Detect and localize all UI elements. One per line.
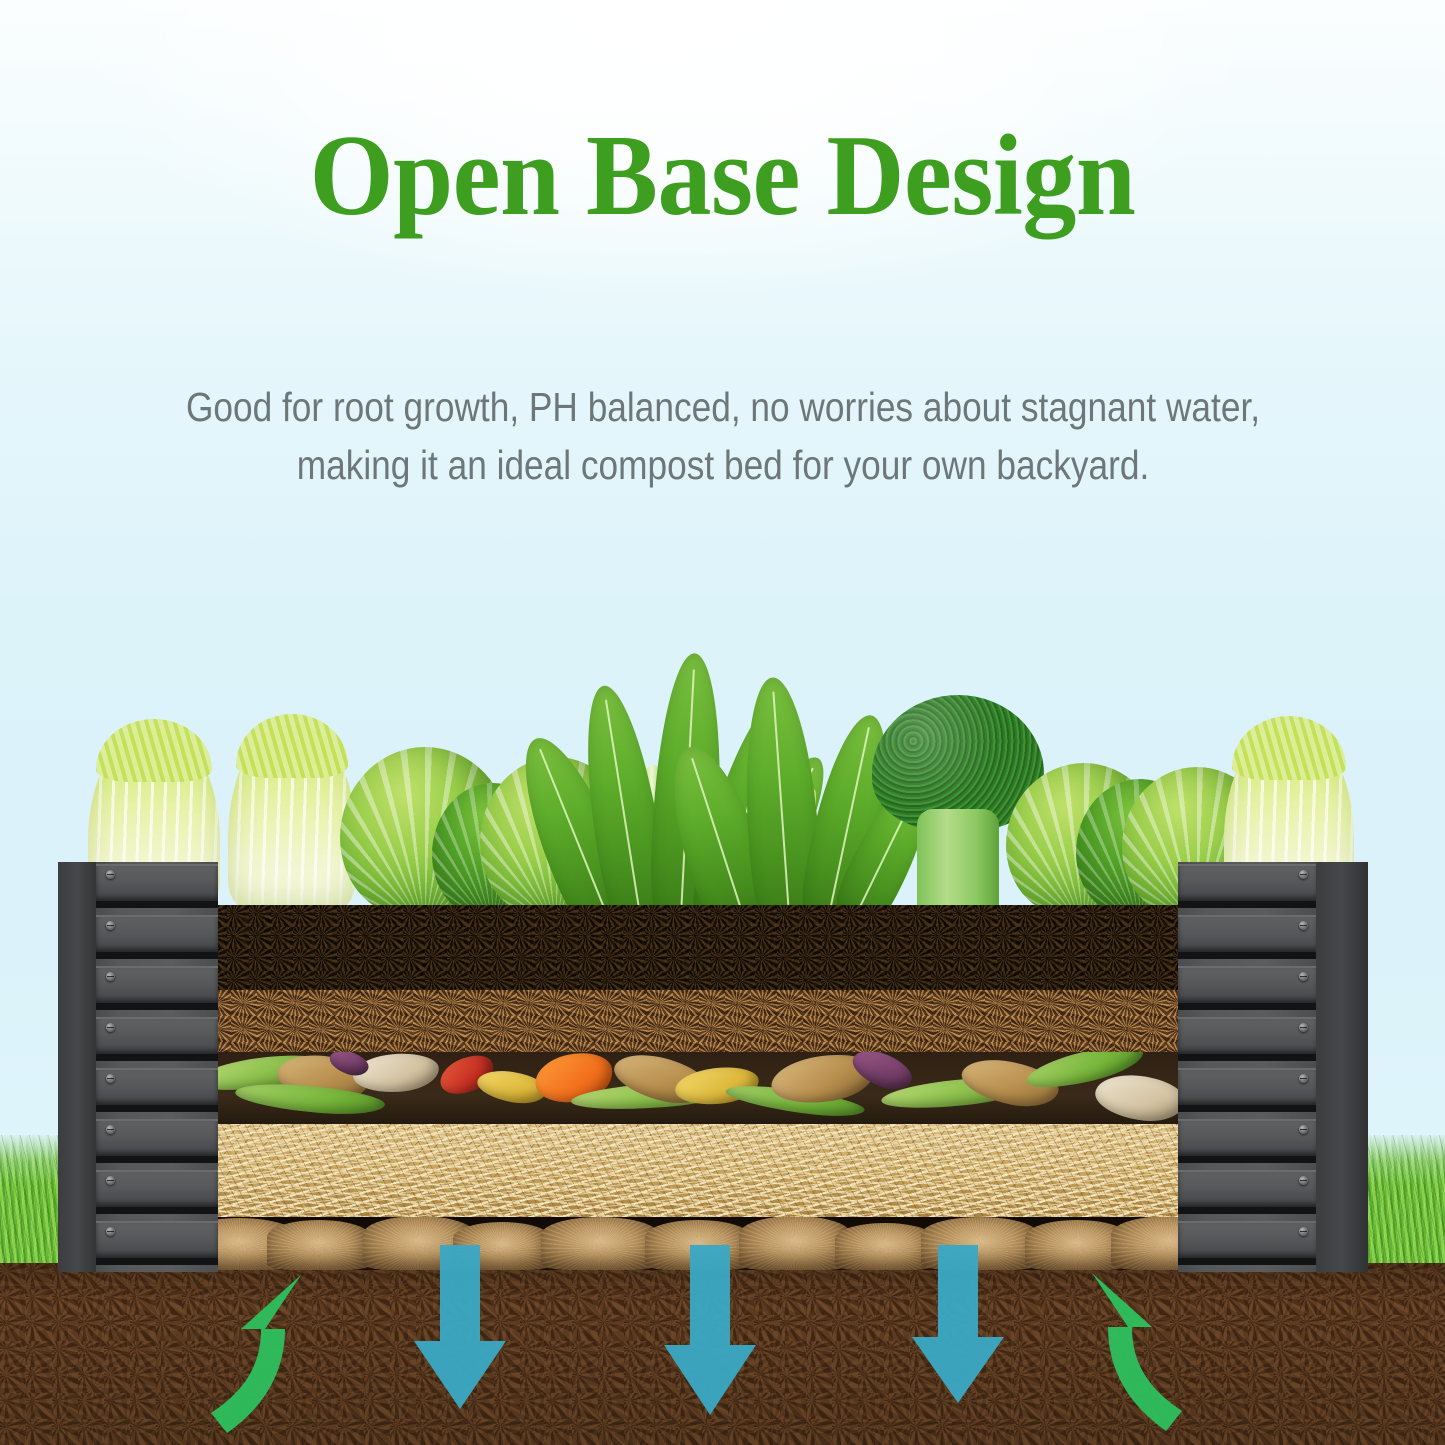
screw-icon xyxy=(106,1023,115,1032)
panel-slat xyxy=(96,915,218,959)
layer-straw xyxy=(205,1124,1180,1217)
right-panel-side-edge xyxy=(1316,862,1368,1272)
panel-slat xyxy=(96,1170,218,1214)
panel-slat xyxy=(96,1017,218,1061)
screw-icon xyxy=(1299,1176,1308,1185)
screw-icon xyxy=(1299,972,1308,981)
screw-icon xyxy=(106,1125,115,1134)
page-title: Open Base Design xyxy=(51,118,1395,234)
panel-slat xyxy=(96,1068,218,1112)
layer-compost xyxy=(205,990,1180,1052)
panel-slat xyxy=(1178,864,1318,908)
screw-icon xyxy=(106,870,115,879)
arrow-down-blue-3 xyxy=(908,1245,1008,1415)
panel-slat xyxy=(1178,1119,1318,1163)
broccoli-stem xyxy=(917,809,1000,915)
panel-slat xyxy=(1178,1068,1318,1112)
screw-icon xyxy=(1299,921,1308,930)
subtitle-line-2: making it an ideal compost bed for your … xyxy=(151,436,1295,494)
layer-kitchen-scraps xyxy=(205,1052,1180,1124)
page-subtitle: Good for root growth, PH balanced, no wo… xyxy=(58,378,1388,494)
airflow-arrows xyxy=(0,1245,1445,1445)
left-panel xyxy=(58,862,218,1272)
screw-icon xyxy=(1299,1227,1308,1236)
subtitle-line-1: Good for root growth, PH balanced, no wo… xyxy=(151,378,1295,436)
arrow-up-green-right xyxy=(1078,1265,1188,1440)
compost-bed-cross-section xyxy=(205,905,1180,1270)
panel-slat xyxy=(96,864,218,908)
open-base-design-infographic: Open Base Design Good for root growth, P… xyxy=(0,0,1445,1445)
screw-icon xyxy=(1299,1125,1308,1134)
bok-choy-1 xyxy=(700,665,880,915)
panel-slat xyxy=(1178,1017,1318,1061)
panel-slat xyxy=(1178,1170,1318,1214)
right-panel-face xyxy=(1178,862,1318,1272)
panel-slat xyxy=(1178,966,1318,1010)
screw-icon xyxy=(106,1176,115,1185)
screw-icon xyxy=(1299,1023,1308,1032)
left-panel-side-edge xyxy=(58,862,98,1272)
screw-icon xyxy=(106,1074,115,1083)
layer-topsoil xyxy=(205,905,1180,990)
arrow-down-blue-1 xyxy=(410,1245,510,1420)
napa-cabbage-2 xyxy=(228,725,356,915)
panel-slat xyxy=(96,1119,218,1163)
screw-icon xyxy=(1299,870,1308,879)
arrow-up-green-left xyxy=(205,1267,315,1442)
screw-icon xyxy=(106,1227,115,1236)
screw-icon xyxy=(1299,1074,1308,1083)
right-panel xyxy=(1178,862,1368,1272)
arrow-down-blue-2 xyxy=(660,1245,760,1425)
scrap-item xyxy=(1093,1071,1180,1124)
left-panel-face xyxy=(96,862,218,1272)
panel-slat xyxy=(1178,915,1318,959)
panel-slat xyxy=(96,966,218,1010)
screw-icon xyxy=(106,972,115,981)
screw-icon xyxy=(106,921,115,930)
